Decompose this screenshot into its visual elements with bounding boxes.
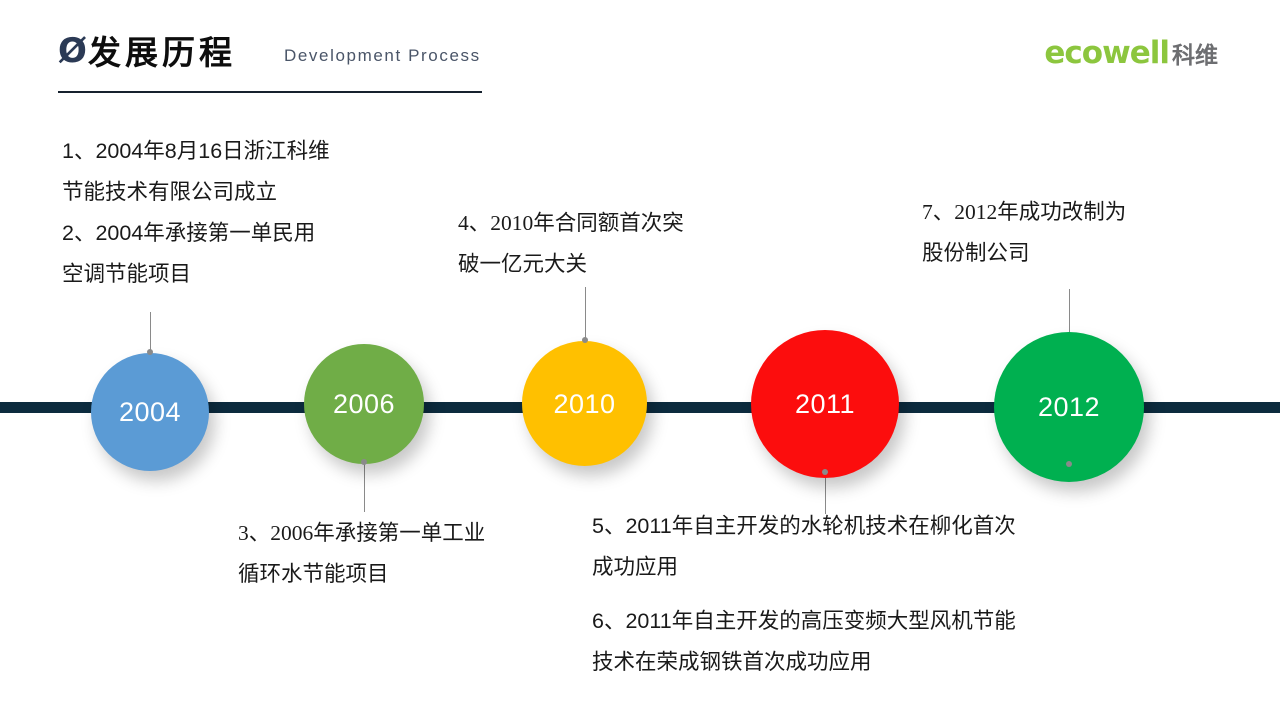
timeline-node-2010[interactable]: 2010 [522, 341, 647, 466]
timeline-node-label: 2006 [333, 390, 395, 418]
note-2012-block: 7、2012年成功改制为 股份制公司 [922, 192, 1126, 274]
note-2004-block: 1、2004年8月16日浙江科维 节能技术有限公司成立 2、2004年承接第一单… [62, 131, 330, 295]
note-2011a-block: 5、2011年自主开发的水轮机技术在柳化首次 成功应用 [592, 506, 1016, 588]
note-line: 空调节能项目 [62, 254, 330, 295]
timeline-node-2006[interactable]: 2006 [304, 344, 424, 464]
title-divider [58, 91, 482, 93]
note-line: 破一亿元大关 [458, 244, 684, 285]
timeline-node-label: 2010 [553, 390, 615, 418]
leader-line-2011 [825, 472, 826, 514]
note-line: 4、2010年合同额首次突 [458, 203, 684, 244]
brand-logo-sub: 科维 [1172, 38, 1218, 72]
note-line: 5、2011年自主开发的水轮机技术在柳化首次 [592, 506, 1016, 547]
page-title: 发展历程 [88, 33, 236, 73]
slashed-circle-icon: Ø [58, 32, 92, 70]
leader-dot-2006 [361, 459, 367, 465]
leader-line-2006 [364, 462, 365, 512]
timeline-node-2012[interactable]: 2012 [994, 332, 1144, 482]
note-line: 成功应用 [592, 547, 1016, 588]
timeline-node-label: 2004 [119, 398, 181, 426]
note-line: 股份制公司 [922, 233, 1126, 274]
leader-dot-2010 [582, 337, 588, 343]
note-line: 3、2006年承接第一单工业 [238, 513, 485, 554]
leader-line-2010 [585, 287, 586, 343]
note-2011b-block: 6、2011年自主开发的高压变频大型风机节能 技术在荣成钢铁首次成功应用 [592, 601, 1016, 683]
slide-root: Ø 发展历程 Development Process ecowell 科维 20… [0, 0, 1280, 720]
note-line: 7、2012年成功改制为 [922, 192, 1126, 233]
note-line: 1、2004年8月16日浙江科维 [62, 131, 330, 172]
note-line: 6、2011年自主开发的高压变频大型风机节能 [592, 601, 1016, 642]
leader-dot-2012 [1066, 461, 1072, 467]
brand-logo-main: ecowell [1044, 36, 1169, 70]
note-line: 节能技术有限公司成立 [62, 172, 330, 213]
page-subtitle: Development Process [284, 45, 481, 67]
note-2006-block: 3、2006年承接第一单工业 循环水节能项目 [238, 513, 485, 595]
timeline-node-label: 2012 [1038, 393, 1100, 421]
timeline-node-label: 2011 [795, 390, 855, 418]
note-line: 技术在荣成钢铁首次成功应用 [592, 642, 1016, 683]
leader-dot-2011 [822, 469, 828, 475]
note-line: 循环水节能项目 [238, 554, 485, 595]
timeline-node-2004[interactable]: 2004 [91, 353, 209, 471]
leader-dot-2004 [147, 349, 153, 355]
note-2010-block: 4、2010年合同额首次突 破一亿元大关 [458, 203, 684, 285]
timeline-node-2011[interactable]: 2011 [751, 330, 899, 478]
note-line: 2、2004年承接第一单民用 [62, 213, 330, 254]
brand-logo: ecowell 科维 [1044, 36, 1218, 70]
